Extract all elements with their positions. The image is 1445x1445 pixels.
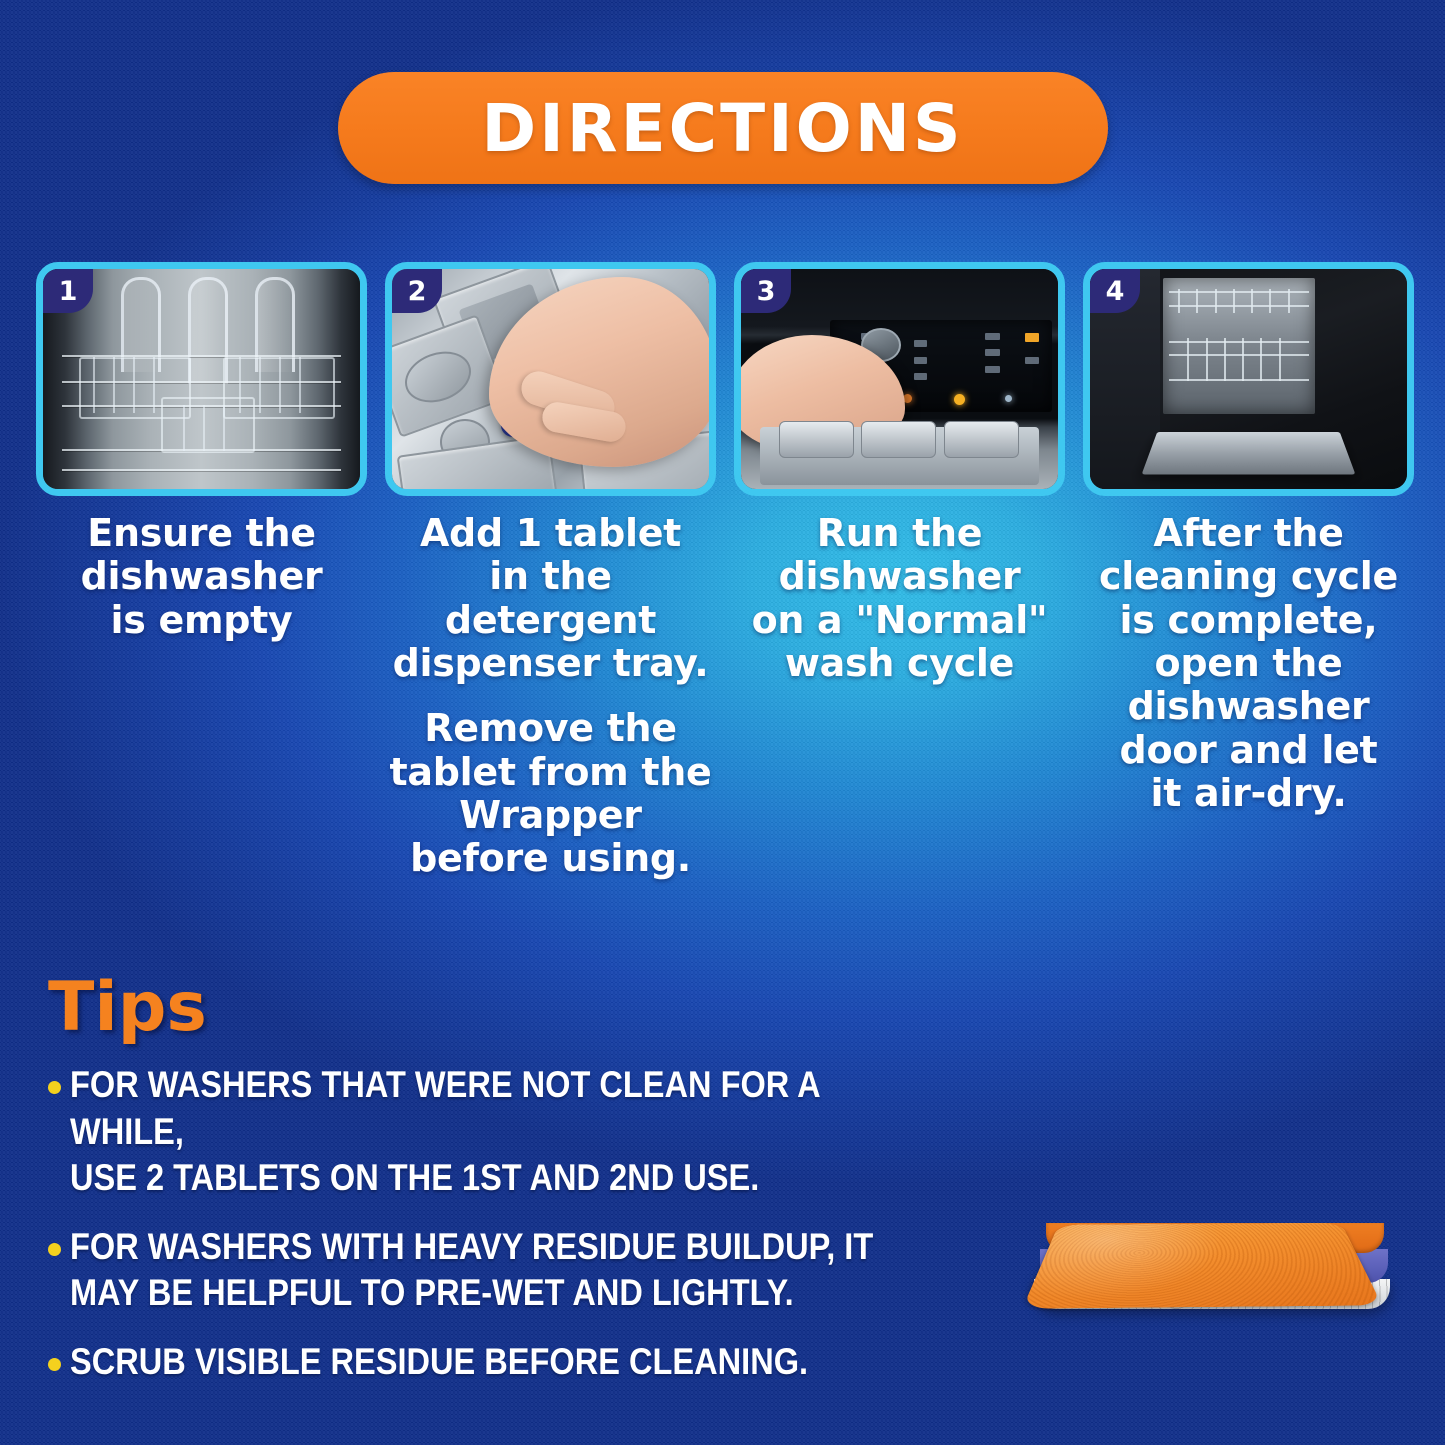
directions-infographic: DIRECTIONS 1: [0, 0, 1445, 1445]
hand-adding-tablet-image: [392, 269, 709, 489]
bullet-dot-icon: [48, 1081, 61, 1094]
step-4-photo: 4: [1083, 262, 1414, 496]
page-title: DIRECTIONS: [481, 90, 963, 167]
title-banner-wrap: DIRECTIONS: [0, 72, 1445, 184]
tips-heading: Tips: [48, 968, 207, 1047]
step-1: 1: [36, 262, 367, 881]
directions-banner: DIRECTIONS: [338, 72, 1108, 184]
control-panel-image: [741, 269, 1058, 489]
step-2-caption-line-2: Remove the tablet from the Wrapper befor…: [385, 707, 716, 880]
step-3-badge: 3: [741, 269, 791, 313]
dishwasher-open-door: [1142, 432, 1356, 475]
step-1-caption-line-1: Ensure the dishwasher is empty: [81, 512, 323, 642]
step-3-photo: 3: [734, 262, 1065, 496]
step-2-badge: 2: [392, 269, 442, 313]
step-3-caption: Run the dishwasher on a "Normal" wash cy…: [752, 512, 1048, 685]
step-4-badge: 4: [1090, 269, 1140, 313]
step-2-caption: Add 1 tablet in the detergent dispenser …: [385, 512, 716, 881]
bullet-dot-icon: [48, 1358, 61, 1371]
open-dishwasher-image: [1090, 269, 1407, 489]
tablet-layer-orange-top: [1022, 1223, 1382, 1309]
tip-item: FOR WASHERS THAT WERE NOT CLEAN FOR A WH…: [48, 1062, 1048, 1202]
empty-dishwasher-interior-image: [43, 269, 360, 489]
tip-item: SCRUB VISIBLE RESIDUE BEFORE CLEANING.: [48, 1339, 1048, 1386]
tip-item: FOR WASHERS WITH HEAVY RESIDUE BUILDUP, …: [48, 1224, 1048, 1317]
tip-text: FOR WASHERS WITH HEAVY RESIDUE BUILDUP, …: [70, 1224, 873, 1317]
step-1-caption: Ensure the dishwasher is empty: [81, 512, 323, 642]
product-tablet-image: [1023, 1107, 1407, 1337]
step-2: 2 Add 1 tablet in the detergent dispens: [385, 262, 716, 881]
step-2-caption-line-1: Add 1 tablet in the detergent dispenser …: [385, 512, 716, 685]
tip-text: SCRUB VISIBLE RESIDUE BEFORE CLEANING.: [70, 1339, 808, 1386]
step-1-badge: 1: [43, 269, 93, 313]
step-4-caption-line-1: After the cleaning cycle is complete, op…: [1099, 512, 1398, 815]
dishwasher-tub: [1163, 278, 1315, 414]
step-4: 4: [1083, 262, 1414, 881]
step-4-caption: After the cleaning cycle is complete, op…: [1099, 512, 1398, 815]
bullet-dot-icon: [48, 1243, 61, 1256]
step-3: 3: [734, 262, 1065, 881]
tip-text: FOR WASHERS THAT WERE NOT CLEAN FOR A WH…: [70, 1062, 931, 1202]
step-1-photo: 1: [36, 262, 367, 496]
tips-list: FOR WASHERS THAT WERE NOT CLEAN FOR A WH…: [48, 1062, 1048, 1408]
step-2-photo: 2: [385, 262, 716, 496]
steps-row: 1: [36, 262, 1414, 881]
step-3-caption-line-1: Run the dishwasher on a "Normal" wash cy…: [752, 512, 1048, 685]
